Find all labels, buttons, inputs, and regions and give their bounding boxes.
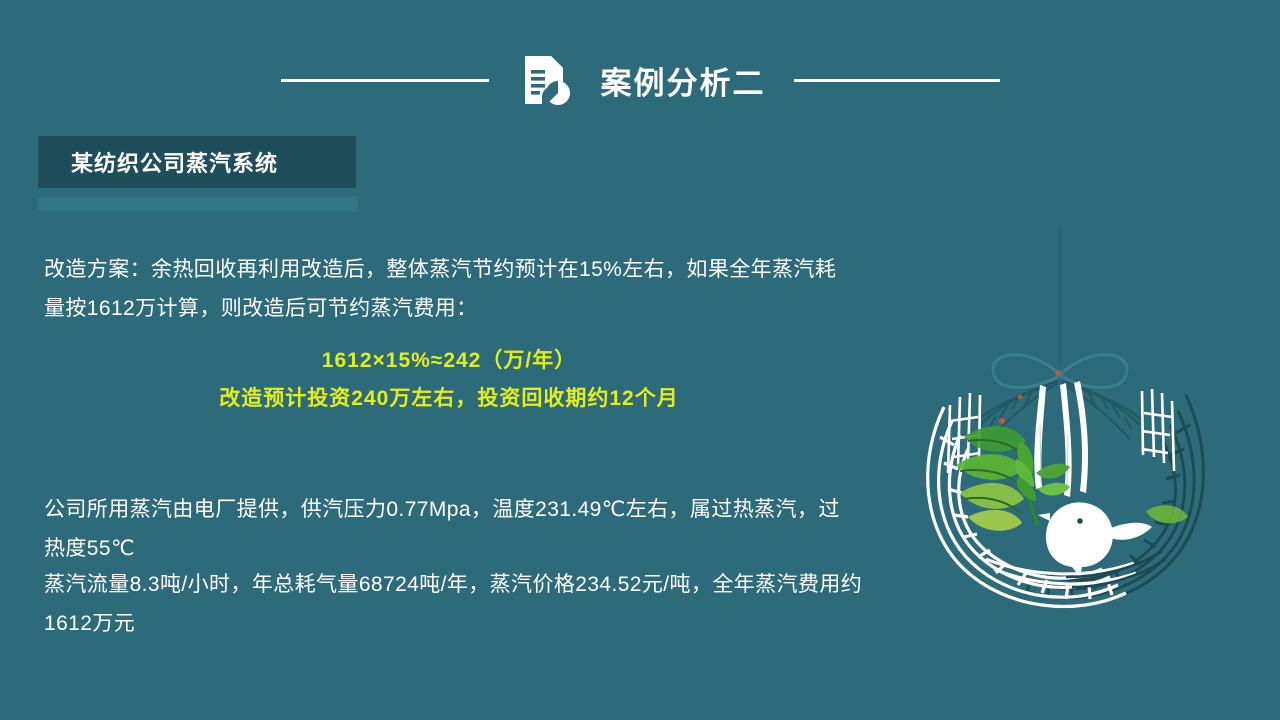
section-title-label: 某纺织公司蒸汽系统 <box>71 146 278 178</box>
page-title: 案例分析二 <box>601 58 766 103</box>
section-title-underbar <box>38 197 358 211</box>
twig-ring-dark <box>1018 395 1203 607</box>
retrofit-plan-paragraph: 改造方案：余热回收再利用改造后，整体蒸汽节约预计在15%左右，如果全年蒸汽耗量按… <box>44 250 854 328</box>
savings-highlight-group: 1612×15%≈242（万/年） 改造预计投资240万左右，投资回收期约12个… <box>44 342 854 418</box>
savings-formula-line: 1612×15%≈242（万/年） <box>44 342 854 380</box>
steam-specs-paragraph: 公司所用蒸汽由电厂提供，供汽压力0.77Mpa，温度231.49℃左右，属过热蒸… <box>44 490 859 568</box>
green-foliage-left <box>956 426 1026 531</box>
ribbon-tails <box>1034 381 1088 497</box>
wreath-with-bird-illustration <box>890 225 1230 645</box>
slide-header: 案例分析二 <box>0 45 1280 115</box>
ribbon-tails-shade <box>1040 425 1068 491</box>
slide-canvas: 案例分析二 某纺织公司蒸汽系统 改造方案：余热回收再利用改造后，整体蒸汽节约预计… <box>0 0 1280 720</box>
section-title-banner: 某纺织公司蒸汽系统 <box>38 136 356 188</box>
header-rule-left <box>281 79 489 82</box>
payback-period-line: 改造预计投资240万左右，投资回收期约12个月 <box>44 380 854 418</box>
document-chart-icon <box>517 52 573 108</box>
header-rule-right <box>794 79 1000 82</box>
steam-usage-paragraph: 蒸汽流量8.3吨/小时，年总耗气量68724吨/年，蒸汽价格234.52元/吨，… <box>44 565 884 643</box>
